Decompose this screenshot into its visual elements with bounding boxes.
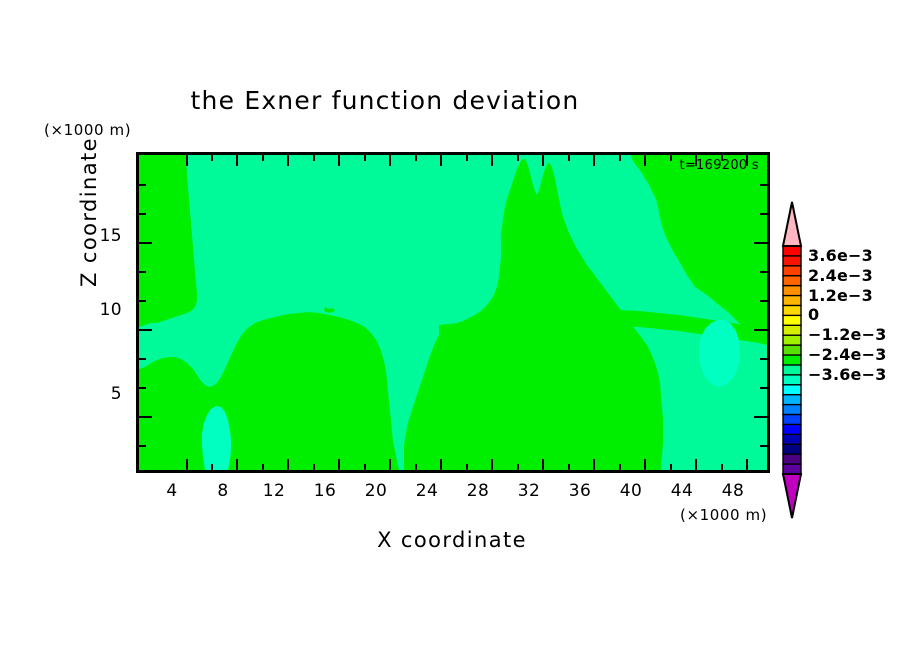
contour-bands (139, 155, 767, 470)
xtick-top-minor (619, 155, 621, 161)
xtick-label: 28 (465, 481, 491, 501)
xtick-label: 24 (414, 481, 440, 501)
colorbar-band (783, 454, 801, 464)
xtick-minor (262, 464, 264, 470)
colorbar-band (783, 315, 801, 325)
xtick-top-major (287, 155, 289, 166)
xtick-top-major (644, 155, 646, 166)
xtick-top-minor (568, 155, 570, 161)
xtick-top-major (440, 155, 442, 166)
ytick-minor (139, 300, 146, 302)
xtick-minor (721, 464, 723, 470)
xtick-major (389, 459, 391, 470)
ytick-minor (139, 184, 146, 186)
contour-field (139, 155, 767, 470)
ytick-minor (139, 213, 146, 215)
ytick-minor (139, 445, 146, 447)
colorbar-tick-label: 1.2e−3 (808, 286, 873, 305)
ytick-major (139, 416, 152, 418)
xtick-major (236, 459, 238, 470)
colorbar-band (783, 385, 801, 395)
xtick-major (440, 459, 442, 470)
xtick-top-major (593, 155, 595, 166)
colorbar-band (783, 395, 801, 405)
colorbar-band (783, 305, 801, 315)
xtick-top-major (491, 155, 493, 166)
ytick-label: 10 (92, 300, 122, 320)
colorbar-band (783, 335, 801, 345)
xtick-label: 4 (159, 481, 185, 501)
xtick-label: 32 (516, 481, 542, 501)
colorbar-band (783, 355, 801, 365)
colorbar-band (783, 464, 801, 474)
xtick-minor (619, 464, 621, 470)
page-title: the Exner function deviation (0, 86, 770, 115)
x-axis-unit-label: (×1000 m) (680, 506, 767, 524)
xtick-label: 12 (261, 481, 287, 501)
ytick-major (139, 242, 152, 244)
colorbar-band (783, 325, 801, 335)
ytick-minor (139, 271, 146, 273)
xtick-top-major (186, 155, 188, 166)
xtick-major (186, 459, 188, 470)
xtick-top-minor (211, 155, 213, 161)
xtick-label: 40 (618, 481, 644, 501)
xtick-minor (211, 464, 213, 470)
time-annotation: t=169200 s (679, 158, 759, 173)
ytick-right-minor (760, 271, 767, 273)
xtick-top-major (542, 155, 544, 166)
colorbar-tick-label: 0 (808, 305, 819, 324)
ytick-right-major (754, 329, 767, 331)
colorbar-band (783, 345, 801, 355)
colorbar-band (783, 365, 801, 375)
ytick-right-minor (760, 358, 767, 360)
colorbar-band (783, 375, 801, 385)
colorbar-tick-label: 3.6e−3 (808, 246, 873, 265)
y-axis-title: Z coordinate (77, 102, 101, 322)
xtick-major (491, 459, 493, 470)
xtick-top-minor (517, 155, 519, 161)
ytick-minor (139, 387, 146, 389)
colorbar-tick-label: −2.4e−3 (808, 345, 887, 364)
colorbar-bands (783, 246, 801, 474)
xtick-top-minor (466, 155, 468, 161)
xtick-label: 48 (720, 481, 746, 501)
colorbar-scale (781, 200, 803, 520)
xtick-minor (415, 464, 417, 470)
xtick-top-minor (262, 155, 264, 161)
ytick-right-minor (760, 300, 767, 302)
xtick-minor (466, 464, 468, 470)
xtick-major (746, 459, 748, 470)
xtick-minor (568, 464, 570, 470)
xtick-label: 16 (312, 481, 338, 501)
ytick-major (139, 329, 152, 331)
xtick-top-minor (313, 155, 315, 161)
ytick-right-minor (760, 213, 767, 215)
xtick-minor (517, 464, 519, 470)
xtick-major (644, 459, 646, 470)
colorbar-band (783, 286, 801, 296)
colorbar-tick-label: −1.2e−3 (808, 325, 887, 344)
figure-root: the Exner function deviation (×1000 m) (… (0, 0, 904, 654)
xtick-major (338, 459, 340, 470)
ytick-label: 15 (92, 226, 122, 246)
colorbar-band (783, 405, 801, 415)
colorbar-band (783, 424, 801, 434)
colorbar-band (783, 434, 801, 444)
ytick-right-minor (760, 445, 767, 447)
xtick-top-major (389, 155, 391, 166)
colorbar-band (783, 246, 801, 256)
xtick-top-major (236, 155, 238, 166)
contour-plot-area[interactable]: t=169200 s (136, 152, 770, 473)
xtick-label: 20 (363, 481, 389, 501)
ytick-right-minor (760, 184, 767, 186)
colorbar-tick-label: 2.4e−3 (808, 266, 873, 285)
colorbar-over-arrow (783, 202, 801, 246)
xtick-label: 36 (567, 481, 593, 501)
xtick-major (593, 459, 595, 470)
colorbar-band (783, 266, 801, 276)
colorbar-band (783, 444, 801, 454)
colorbar[interactable] (781, 200, 803, 520)
ytick-label: 5 (92, 384, 122, 404)
xtick-major (542, 459, 544, 470)
colorbar-under-arrow (783, 474, 801, 518)
xtick-minor (364, 464, 366, 470)
colorbar-band (783, 256, 801, 266)
xtick-top-minor (670, 155, 672, 161)
ytick-right-minor (760, 387, 767, 389)
xtick-major (287, 459, 289, 470)
colorbar-tick-label: −3.6e−3 (808, 365, 887, 384)
ytick-right-major (754, 242, 767, 244)
x-axis-title: X coordinate (0, 528, 904, 552)
xtick-top-minor (364, 155, 366, 161)
xtick-major (695, 459, 697, 470)
xtick-top-major (338, 155, 340, 166)
xtick-minor (670, 464, 672, 470)
ytick-minor (139, 358, 146, 360)
xtick-minor (313, 464, 315, 470)
xtick-label: 44 (669, 481, 695, 501)
colorbar-band (783, 296, 801, 306)
xtick-top-minor (415, 155, 417, 161)
xtick-label: 8 (210, 481, 236, 501)
ytick-right-major (754, 416, 767, 418)
colorbar-band (783, 276, 801, 286)
colorbar-band (783, 415, 801, 425)
